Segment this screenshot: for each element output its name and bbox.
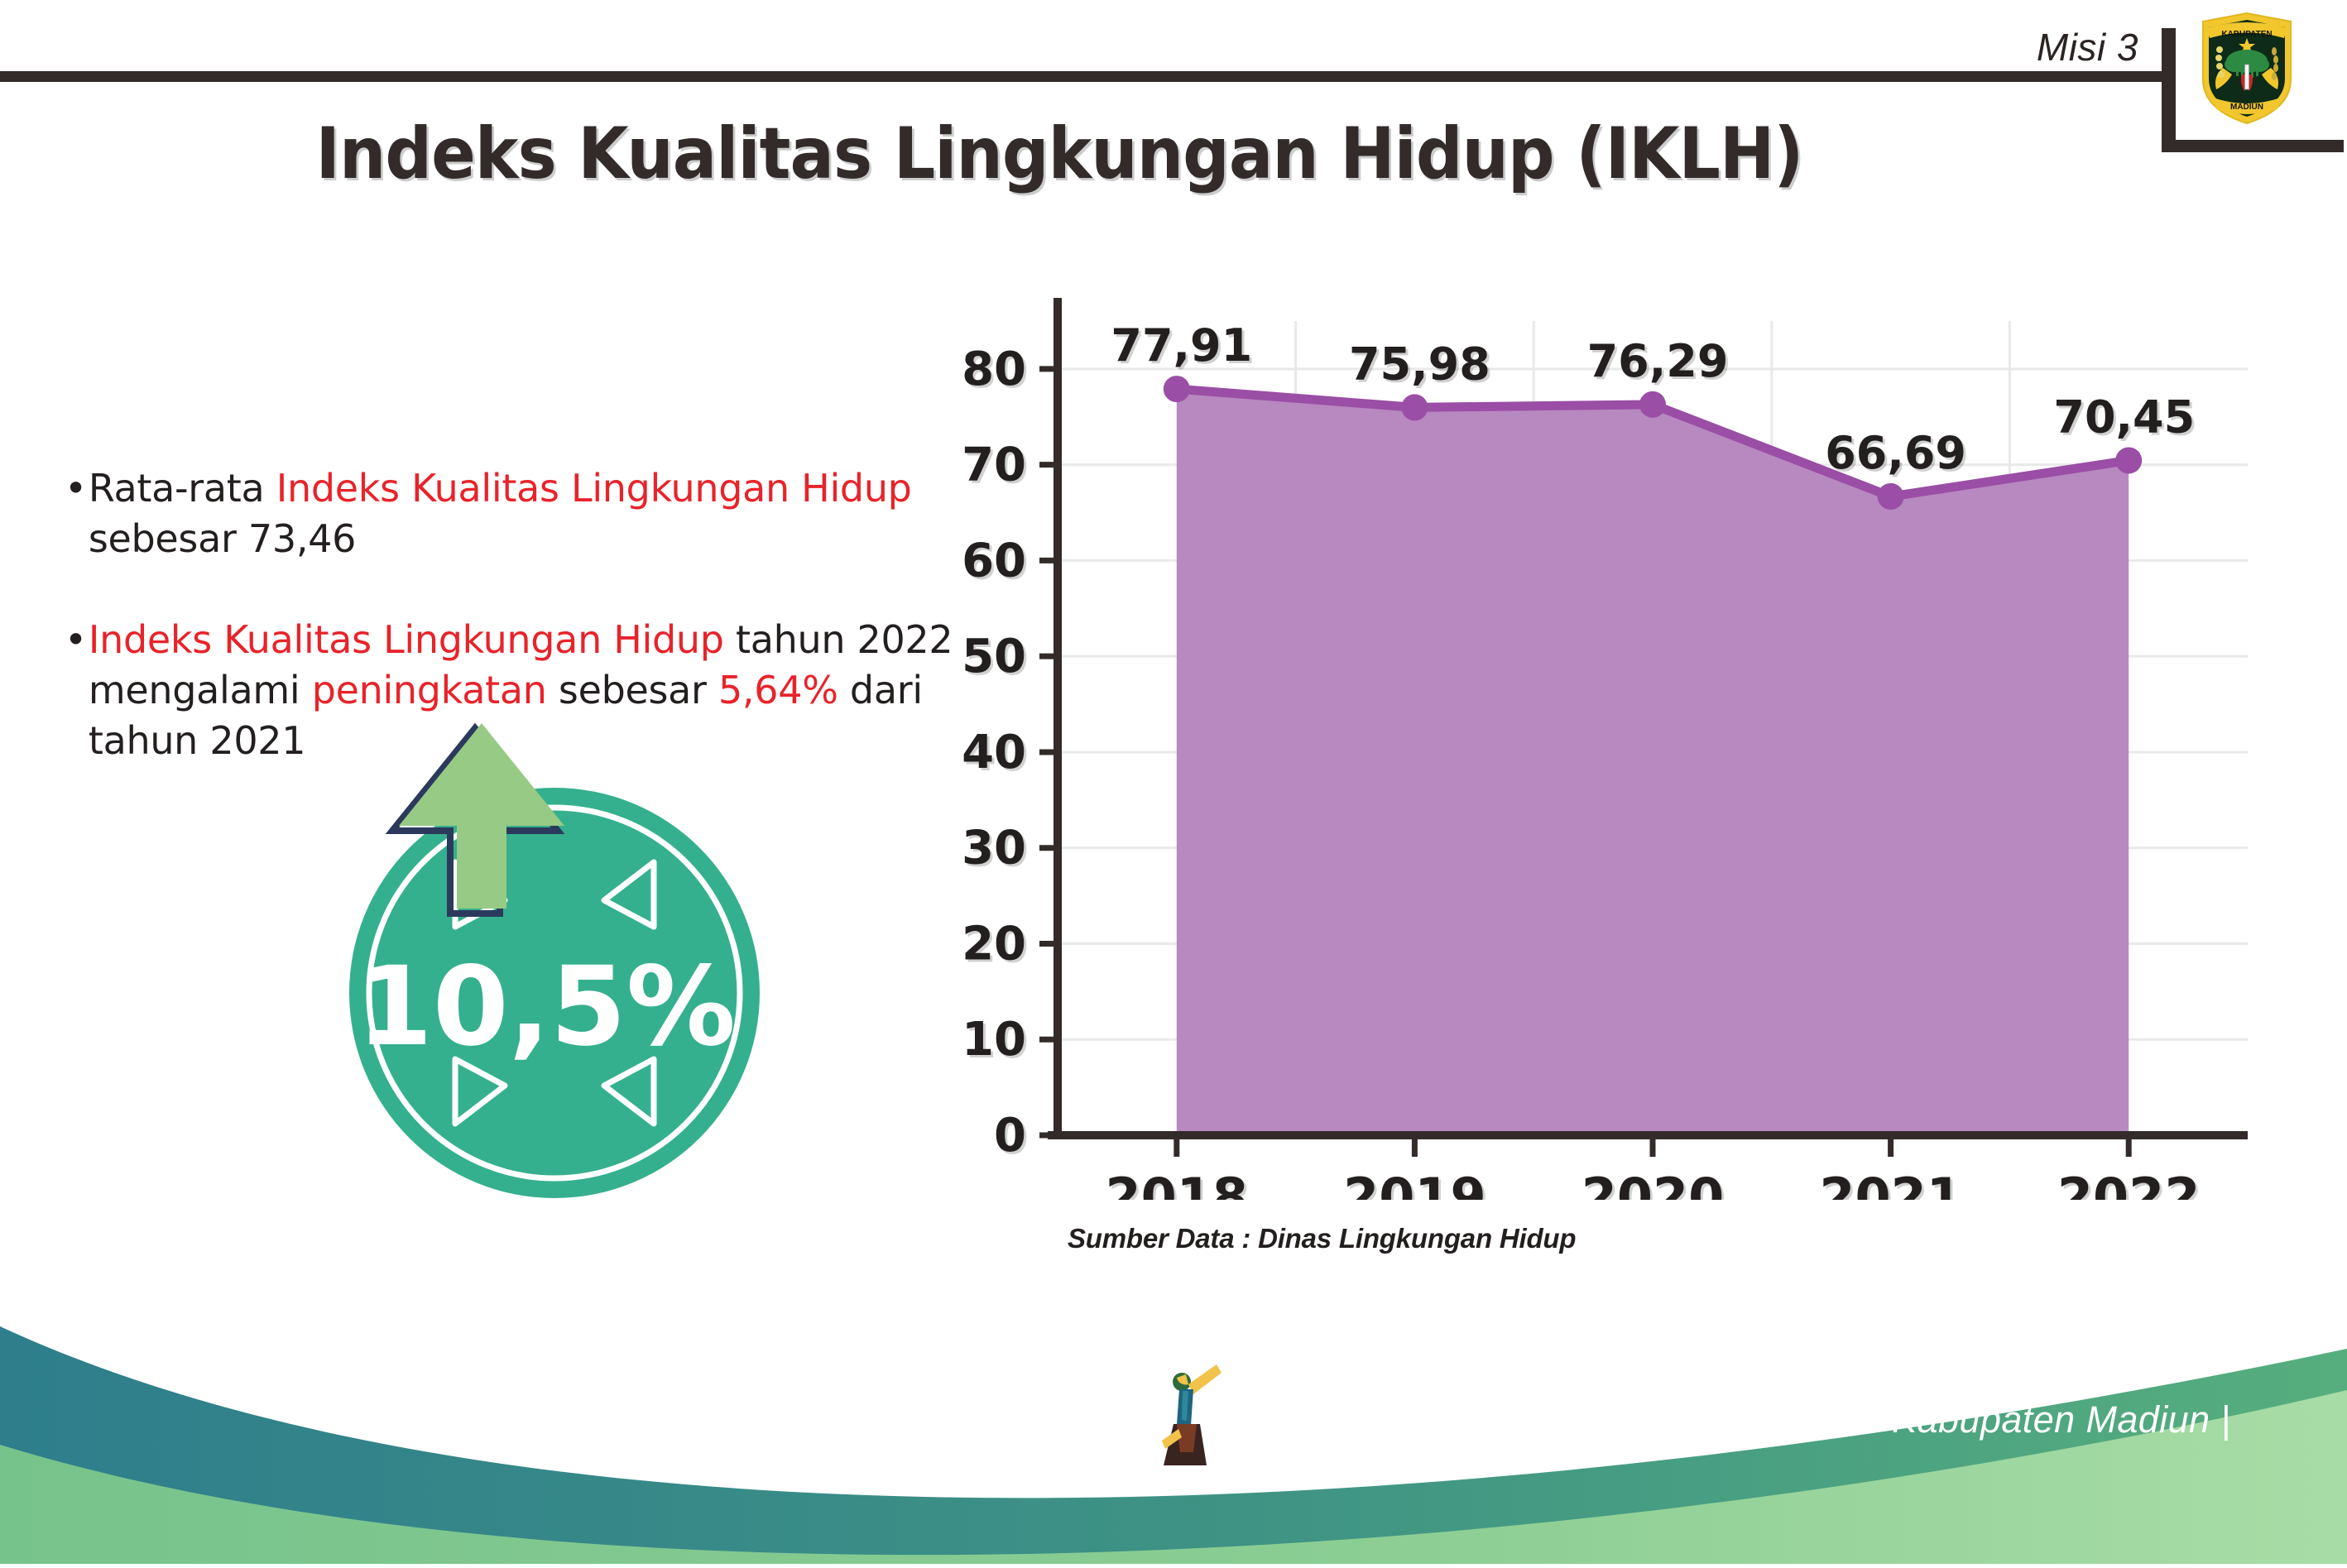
data-point-marker	[1639, 391, 1666, 418]
list-item: • Rata-rata Indeks Kualitas Lingkungan H…	[65, 463, 991, 563]
data-label: 66,69	[1825, 427, 1966, 479]
bullet-marker: •	[65, 615, 87, 665]
bullet-segment-highlight: Indeks Kualitas Lingkungan Hidup	[89, 617, 724, 662]
bullet-marker: •	[65, 463, 87, 514]
bracket-horizontal-bar	[2162, 140, 2344, 152]
data-point-marker	[1401, 394, 1428, 420]
y-axis-tick-label: 30	[962, 822, 1026, 875]
data-label: 70,45	[2053, 391, 2195, 443]
x-axis-category-label: 2018	[1106, 1167, 1249, 1200]
statistics-figure-icon	[1157, 1361, 1228, 1469]
bracket-vertical-bar	[2162, 28, 2176, 152]
bullet-segment-highlight: Indeks Kualitas Lingkungan Hidup	[276, 466, 912, 511]
y-axis-tick-label: 70	[962, 439, 1026, 492]
x-axis-category-label: 2022	[2057, 1167, 2201, 1200]
area-fill	[1177, 389, 2129, 1135]
badge-value: 10,5%	[357, 943, 736, 1071]
page-title: Indeks Kualitas Lingkungan Hidup (IKLH)	[84, 113, 2033, 195]
data-label: 75,98	[1349, 338, 1490, 390]
x-axis-category-label: 2020	[1581, 1167, 1725, 1200]
footer-caption: Media Infografis Data Statistik Sektoral…	[1226, 1398, 2230, 1441]
y-axis-tick-label: 40	[962, 726, 1026, 779]
y-axis-tick-label: 0	[994, 1109, 1026, 1163]
y-axis-tick-label: 60	[962, 534, 1026, 587]
x-axis-category-label: 2019	[1343, 1167, 1486, 1200]
chart-source-note: Sumber Data : Dinas Lingkungan Hidup	[1068, 1223, 1576, 1254]
data-point-marker	[1164, 376, 1190, 402]
y-axis-tick-label: 80	[962, 343, 1026, 396]
data-label: 77,91	[1111, 319, 1252, 372]
kabupaten-madiun-emblem-icon: KABUPATEN MADIUN	[2198, 10, 2296, 126]
data-point-marker	[1878, 483, 1904, 510]
data-label: 76,29	[1587, 335, 1729, 387]
bullet-text: Rata-rata Indeks Kualitas Lingkungan Hid…	[89, 463, 991, 563]
iklh-area-chart: 77,9175,9876,2966,6970,45010203040506070…	[960, 273, 2251, 1200]
svg-text:MADIUN: MADIUN	[2230, 103, 2263, 112]
data-point-marker	[2115, 447, 2142, 473]
increase-badge: 10,5%	[306, 687, 803, 1200]
y-axis-tick-label: 20	[962, 917, 1026, 971]
x-axis-category-label: 2021	[1819, 1167, 1962, 1200]
y-axis-tick-label: 50	[962, 630, 1026, 683]
mission-label: Misi 3	[2037, 25, 2138, 70]
bullet-segment: sebesar 73,46	[89, 516, 356, 561]
bullet-segment: Rata-rata	[89, 466, 276, 511]
svg-text:KABUPATEN: KABUPATEN	[2221, 30, 2272, 39]
header-divider	[0, 71, 2176, 82]
y-axis-tick-label: 10	[962, 1013, 1026, 1067]
